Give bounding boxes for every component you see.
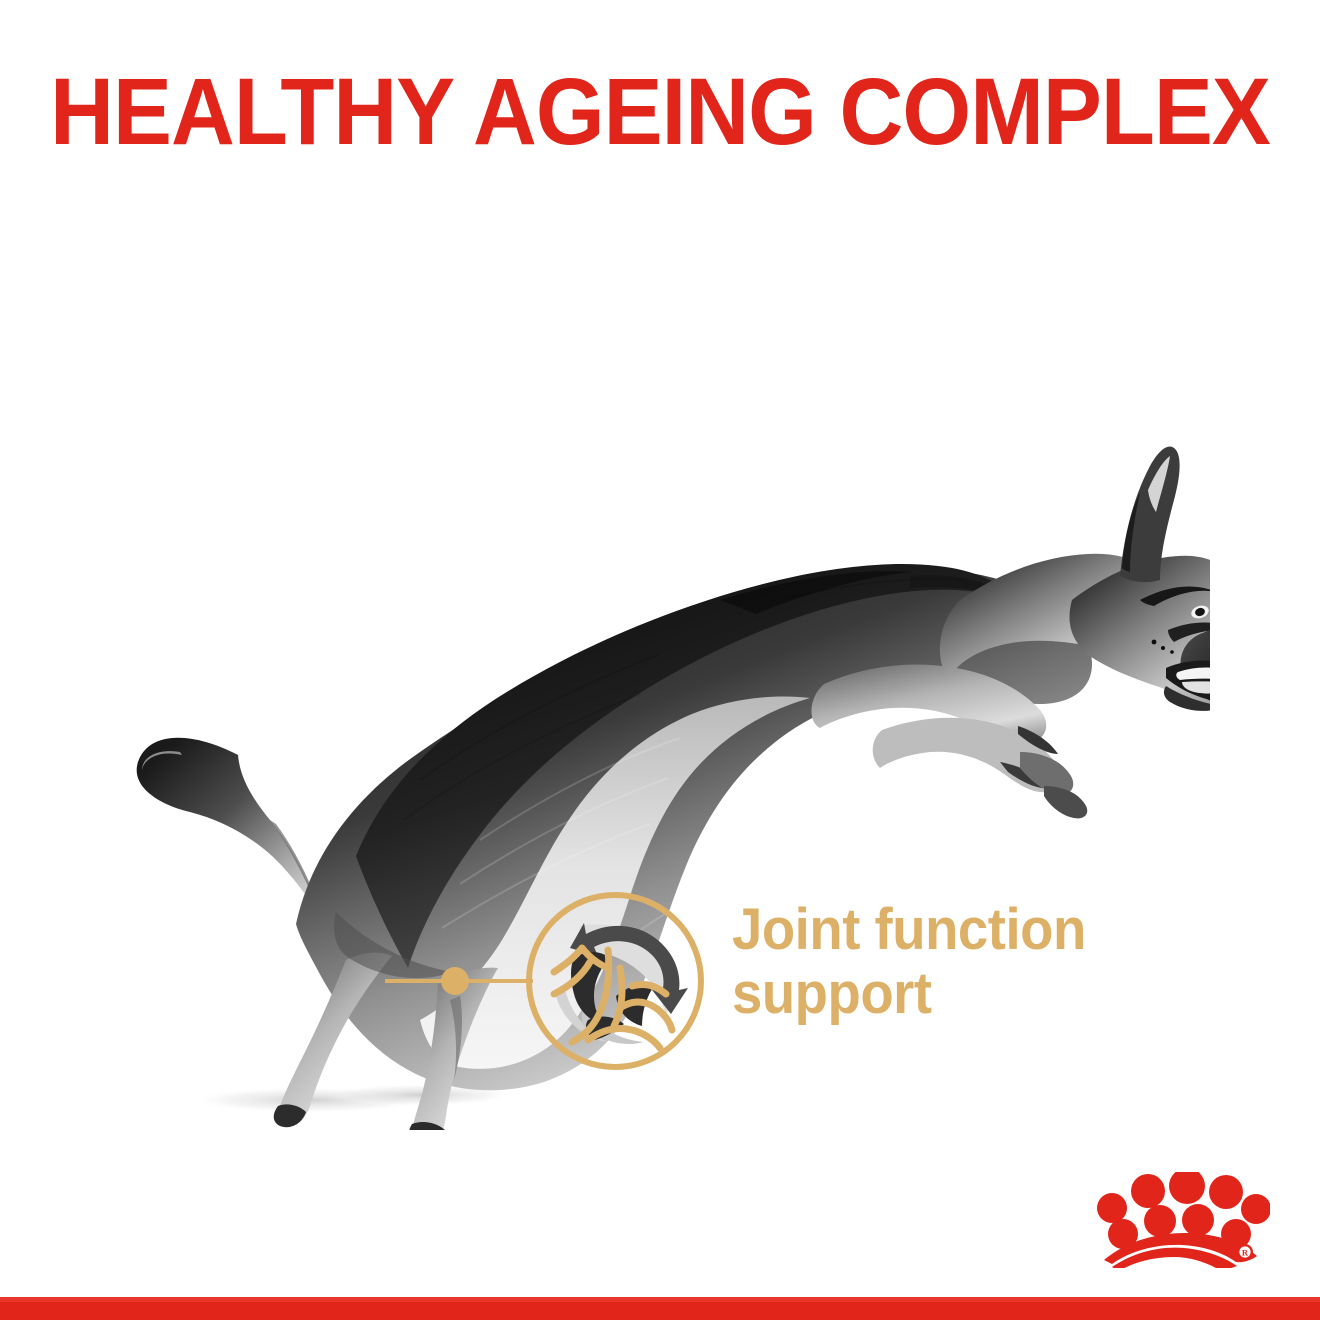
product-feature-panel: HEALTHY AGEING COMPLEX	[0, 0, 1320, 1320]
royal-canin-crown-logo: R	[1090, 1172, 1270, 1268]
joint-function-icon	[524, 890, 706, 1072]
footer-accent-bar-highlight	[0, 1297, 1320, 1302]
benefit-callout: Joint function support	[380, 880, 1120, 1080]
page-title: HEALTHY AGEING COMPLEX	[46, 62, 1274, 162]
connector-dot	[441, 967, 469, 995]
benefit-label-line-2: support	[732, 962, 1108, 1026]
svg-text:R: R	[1242, 1248, 1249, 1258]
footer-accent-bar	[0, 1297, 1320, 1320]
benefit-label-line-1: Joint function	[732, 897, 1086, 962]
registered-mark-icon: R	[1237, 1244, 1253, 1260]
benefit-label: Joint function support	[732, 898, 1108, 1026]
